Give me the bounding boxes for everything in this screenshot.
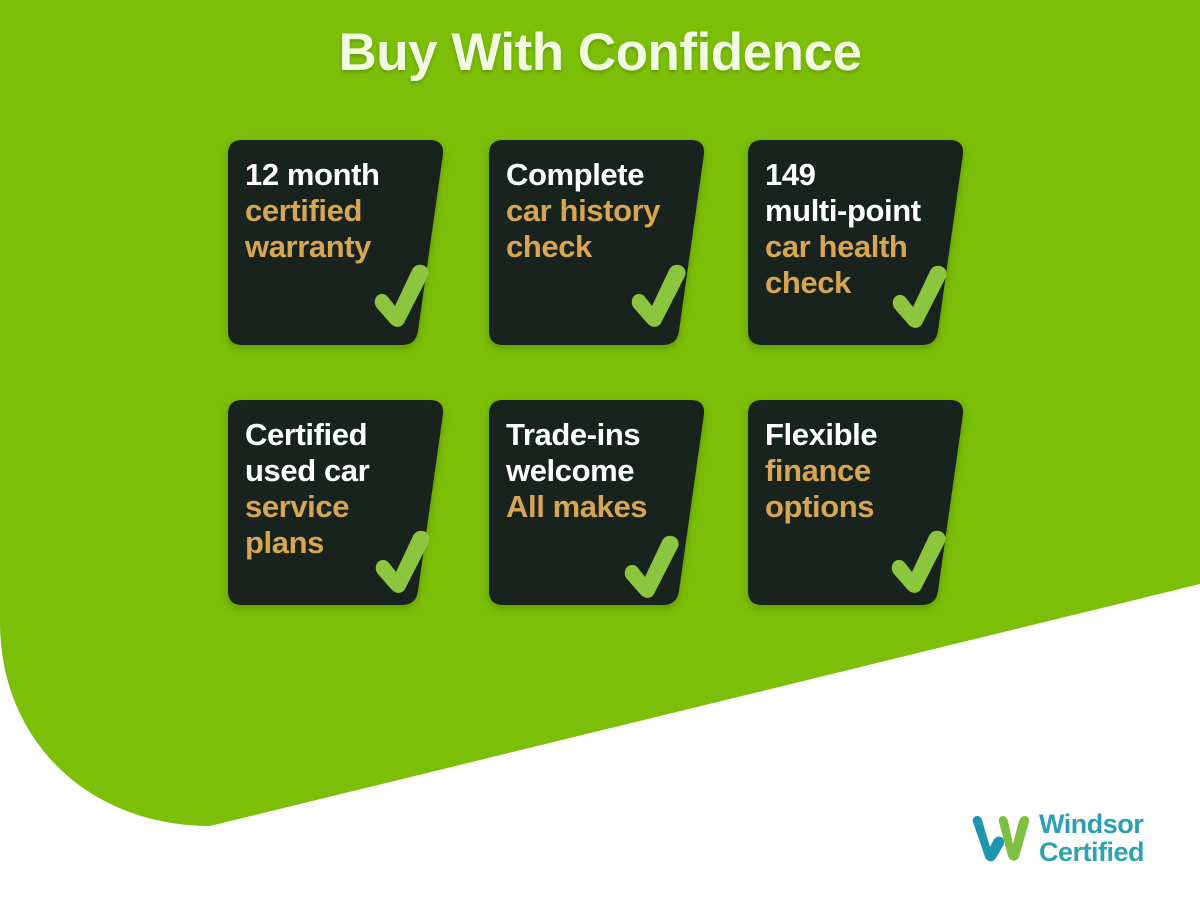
card-line-white: 149 <box>765 157 945 193</box>
windsor-w-icon <box>972 810 1030 866</box>
card-text: 12 month certified warranty <box>245 157 425 265</box>
card-line-gold: certified <box>245 193 425 229</box>
card-line-gold: check <box>506 229 686 265</box>
card-line-gold: car health <box>765 229 945 265</box>
benefits-card-grid: 12 month certified warranty Complete car… <box>228 140 988 660</box>
card-line-gold: car history <box>506 193 686 229</box>
card-line-gold: options <box>765 489 945 525</box>
card-row-bottom: Certified used car service plans Trade-i… <box>228 400 988 660</box>
card-text: Complete car history check <box>506 157 686 265</box>
windsor-certified-logo[interactable]: Windsor Certified <box>972 810 1144 866</box>
check-mark-icon <box>628 262 690 336</box>
benefit-card[interactable]: Trade-ins welcome All makes <box>489 400 705 605</box>
card-text: Flexible finance options <box>765 417 945 525</box>
card-line-white: Trade-ins <box>506 417 686 453</box>
card-line-white: used car <box>245 453 425 489</box>
card-line-gold: finance <box>765 453 945 489</box>
card-line-white: Complete <box>506 157 686 193</box>
card-row-top: 12 month certified warranty Complete car… <box>228 140 988 400</box>
check-mark-icon <box>371 262 433 336</box>
logo-line-certified: Certified <box>1039 838 1144 866</box>
promo-graphic: Buy With Confidence 12 month certified w… <box>0 0 1200 900</box>
card-line-gold: warranty <box>245 229 425 265</box>
card-line-white: Certified <box>245 417 425 453</box>
card-line-white: Flexible <box>765 417 945 453</box>
logo-line-windsor: Windsor <box>1039 810 1144 838</box>
benefit-card[interactable]: Flexible finance options <box>748 400 964 605</box>
benefit-card[interactable]: Certified used car service plans <box>228 400 444 605</box>
card-line-white: multi-point <box>765 193 945 229</box>
benefit-card[interactable]: Complete car history check <box>489 140 705 345</box>
card-line-gold: service <box>245 489 425 525</box>
check-mark-icon <box>621 533 683 607</box>
card-line-gold: All makes <box>506 489 686 525</box>
check-mark-icon <box>889 263 951 337</box>
card-line-white: 12 month <box>245 157 425 193</box>
check-mark-icon <box>372 528 434 602</box>
logo-wordmark: Windsor Certified <box>1039 810 1144 866</box>
benefit-card[interactable]: 12 month certified warranty <box>228 140 444 345</box>
card-text: Trade-ins welcome All makes <box>506 417 686 525</box>
check-mark-icon <box>888 528 950 602</box>
card-line-white: welcome <box>506 453 686 489</box>
benefit-card[interactable]: 149 multi-point car health check <box>748 140 964 345</box>
page-title: Buy With Confidence <box>0 22 1200 83</box>
